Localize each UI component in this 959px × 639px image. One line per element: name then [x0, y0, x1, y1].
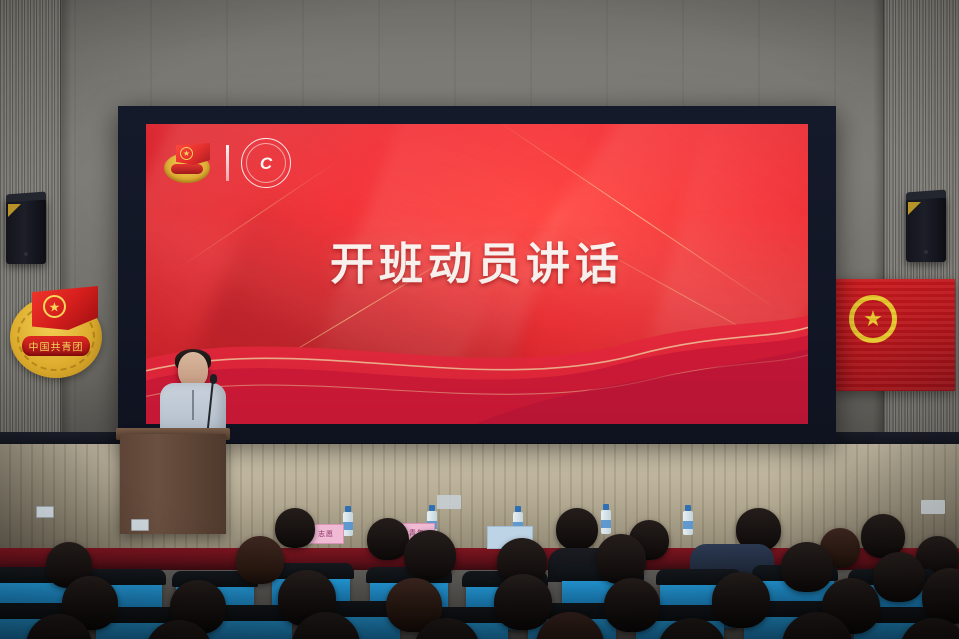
- speaker-corner-accent: [908, 202, 921, 215]
- audience-head: [367, 518, 409, 560]
- medallion-ribbon: 中国共青团: [22, 336, 90, 356]
- gooseneck-microphone-head: [210, 374, 217, 384]
- audience-head: [596, 534, 646, 584]
- audience-head: [236, 536, 284, 584]
- audience-head: [404, 530, 456, 580]
- audience-area: [0, 500, 959, 639]
- medallion-label: 中国共青团: [22, 339, 90, 354]
- medallion-star-icon: [43, 295, 66, 318]
- led-screen: C 开班动员讲话: [146, 124, 808, 424]
- audience-head: [556, 508, 598, 550]
- cyl-medallion-icon: 中国共青团: [10, 286, 107, 382]
- presenter-jacket-zipper: [192, 390, 194, 420]
- loudspeaker-icon-right: [906, 196, 946, 262]
- screen-gloss: [146, 124, 808, 424]
- audience-head: [712, 572, 770, 628]
- audience-head: [604, 578, 660, 632]
- flag-star-ring-icon: ★: [849, 295, 897, 343]
- auditorium-scene: 中国共青团 ★ C: [0, 0, 959, 639]
- loudspeaker-icon-left: [6, 198, 46, 264]
- youth-league-flag-icon: ★: [833, 279, 955, 391]
- audience-head: [494, 574, 552, 630]
- speaker-driver-dot: [24, 252, 28, 256]
- flag-star-glyph: ★: [863, 308, 883, 330]
- speaker-corner-accent: [8, 204, 21, 217]
- audience-head: [781, 542, 833, 592]
- speaker-driver-dot: [924, 250, 928, 254]
- audience-head: [873, 552, 925, 602]
- audience-head: [275, 508, 315, 548]
